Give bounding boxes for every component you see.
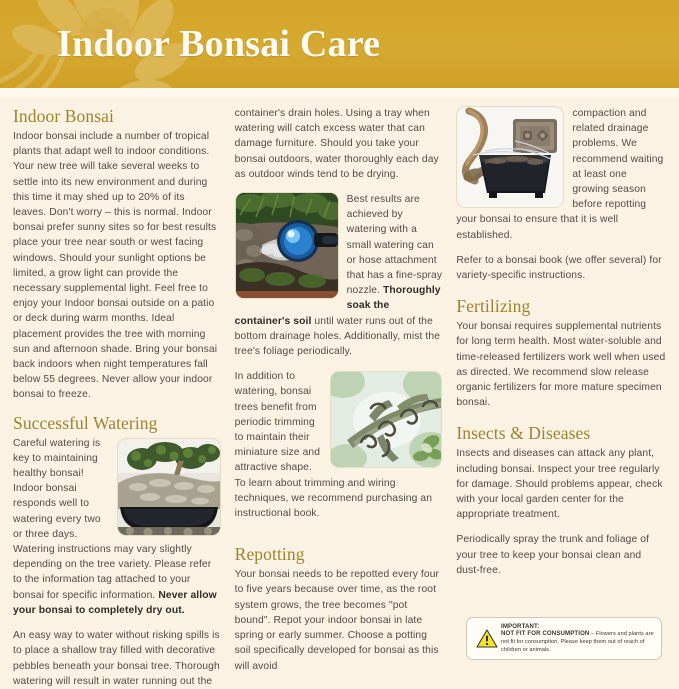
warning-text: IMPORTANT:NOT FIT FOR CONSUMPTION – Flow… (501, 623, 655, 654)
paragraph-insects: Insects and diseases can attack any plan… (456, 446, 666, 522)
heading-repotting: Repotting (235, 544, 443, 565)
heading-insects-diseases: Insects & Diseases (456, 423, 666, 444)
bonsai-pot-photo (117, 438, 221, 536)
watering-nozzle-photo (235, 192, 339, 299)
column-1: Indoor Bonsai Indoor bonsai include a nu… (13, 106, 221, 689)
heading-successful-watering: Successful Watering (13, 413, 221, 434)
compaction-block: compaction and related drainage problems… (456, 106, 666, 253)
bonsai-pot-drainage-photo (456, 106, 564, 208)
paragraph-repotting: Your bonsai needs to be repotted every f… (235, 567, 443, 673)
warning-headline: NOT FIT FOR CONSUMPTION (501, 630, 589, 637)
best-results-block: Best results are achieved by watering wi… (235, 192, 443, 369)
heading-indoor-bonsai: Indoor Bonsai (13, 106, 221, 127)
page-header: Indoor Bonsai Care (0, 0, 679, 88)
watering-text-block: Careful watering is key to maintaining h… (13, 436, 221, 628)
paragraph-indoor-bonsai: Indoor bonsai include a number of tropic… (13, 129, 221, 403)
paragraph-refer-book: Refer to a bonsai book (we offer several… (456, 253, 666, 283)
heading-fertilizing: Fertilizing (456, 296, 666, 317)
page-content: Indoor Bonsai Indoor bonsai include a nu… (0, 97, 679, 689)
paragraph-spray-trunk: Periodically spray the trunk and foliage… (456, 532, 666, 578)
page-title: Indoor Bonsai Care (57, 21, 380, 67)
column-2: container's drain holes. Using a tray wh… (235, 106, 443, 674)
wired-branch-photo (330, 371, 442, 468)
bonsai-care-page: Indoor Bonsai Care Indoor Bonsai Indoor … (0, 0, 679, 679)
warning-important-label: IMPORTANT: (501, 623, 655, 631)
trimming-block: In addition to watering, bonsai trees be… (235, 369, 443, 531)
paragraph-pebble-tray: An easy way to water without risking spi… (13, 628, 221, 689)
best-results-part1: Best results are achieved by watering wi… (347, 194, 442, 296)
paragraph-fertilizing: Your bonsai requires supplemental nutrie… (456, 319, 666, 410)
consumption-warning-box: IMPORTANT:NOT FIT FOR CONSUMPTION – Flow… (466, 617, 662, 660)
paragraph-drain-holes: container's drain holes. Using a tray wh… (235, 106, 443, 182)
column-container: Indoor Bonsai Indoor bonsai include a nu… (13, 106, 666, 689)
header-divider (0, 88, 679, 97)
warning-triangle-icon (473, 629, 501, 648)
column-3: compaction and related drainage problems… (456, 106, 666, 578)
